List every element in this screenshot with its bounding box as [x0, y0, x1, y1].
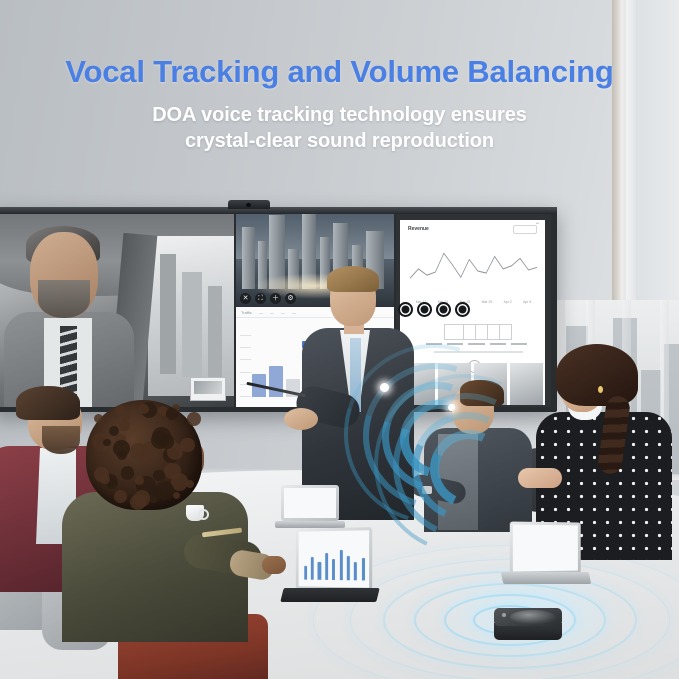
- bar: [354, 562, 357, 580]
- presenter-hand: [284, 408, 318, 430]
- settings-icon[interactable]: [455, 302, 470, 317]
- presenter-hair: [327, 266, 379, 292]
- bar: [332, 559, 335, 580]
- line-chart: [410, 240, 537, 298]
- legend: [426, 342, 527, 346]
- attendee-hands: [518, 468, 562, 488]
- coffee-cup: [186, 505, 204, 521]
- toolbar-item[interactable]: —: [270, 310, 274, 315]
- attendee-hair: [556, 344, 638, 406]
- analytics-title: Revenue: [408, 226, 429, 232]
- bar: [311, 557, 314, 580]
- conference-speakerphone[interactable]: [492, 608, 564, 642]
- device-top: [494, 608, 562, 626]
- zoom-in-icon[interactable]: ＋: [270, 293, 281, 304]
- laptop-screen: [513, 525, 578, 572]
- bar: [304, 566, 307, 580]
- page-title: Vocal Tracking and Volume Balancing: [0, 55, 679, 89]
- attendee-woman-left: [62, 400, 252, 679]
- settings-icon[interactable]: ⚙: [285, 293, 296, 304]
- city-building: [182, 272, 202, 377]
- hair-curl: [164, 463, 180, 479]
- hair-curl: [114, 490, 127, 503]
- earring: [598, 386, 603, 393]
- wristwatch: [422, 486, 432, 494]
- x-tick-label: Mar 29: [482, 300, 493, 306]
- bar: [347, 556, 350, 581]
- bar: [325, 553, 328, 580]
- laptop[interactable]: [502, 522, 590, 594]
- status-led: [502, 613, 506, 617]
- bar: [339, 550, 342, 581]
- picture-in-picture-thumbnail[interactable]: [190, 377, 226, 401]
- hair-curl: [119, 420, 129, 430]
- toolbar-item[interactable]: —: [281, 310, 285, 315]
- hair-curl: [113, 440, 130, 457]
- headline-block: Vocal Tracking and Volume Balancing DOA …: [0, 55, 679, 154]
- toolbar-item[interactable]: —: [259, 310, 263, 315]
- hair-curl: [173, 492, 180, 499]
- laptop-screen: [284, 488, 336, 518]
- footer-rule: [434, 351, 523, 353]
- promo-image: Vocal Tracking and Volume Balancing DOA …: [0, 0, 679, 679]
- stop-icon[interactable]: [417, 302, 432, 317]
- hair-curl: [166, 408, 178, 420]
- y-axis: [240, 335, 251, 397]
- hair-curl: [100, 475, 109, 484]
- laptop-screen: [299, 530, 369, 587]
- voice-source-dot: [448, 404, 455, 411]
- presenter-standing: [300, 270, 416, 520]
- hair-curl: [134, 490, 150, 506]
- subtitle-line-1: DOA voice tracking technology ensures: [152, 104, 527, 126]
- hair-curl: [187, 412, 201, 426]
- page-subtitle: DOA voice tracking technology ensures cr…: [0, 103, 679, 154]
- attendee-hair: [86, 400, 202, 510]
- x-tick-label: Apr 6: [523, 300, 531, 306]
- analytics-panel[interactable]: ••• Revenue Mar 17Mar 21Mar 25Mar 29Apr …: [396, 214, 551, 407]
- hair-curl: [153, 470, 165, 482]
- laptop-bar-series: [304, 545, 365, 581]
- toolbar-item[interactable]: —: [292, 310, 296, 315]
- attendee-hair: [460, 380, 504, 406]
- pause-icon[interactable]: [436, 302, 451, 317]
- close-icon[interactable]: ✕: [240, 293, 251, 304]
- x-tick-label: Apr 2: [504, 300, 512, 306]
- hair-curl: [186, 480, 194, 488]
- remote-attendee-beard: [38, 280, 90, 318]
- voice-source-dot: [380, 383, 389, 392]
- dashboard-title: Traffic: [241, 310, 252, 315]
- remote-participant-panel[interactable]: [0, 214, 234, 407]
- city-building: [208, 286, 222, 378]
- hair-curl: [180, 438, 194, 452]
- camera-bar-icon: [228, 200, 270, 209]
- hair-curl: [135, 476, 144, 485]
- media-controls[interactable]: ✕ ⛶ ＋ ⚙: [240, 293, 296, 304]
- bar: [362, 558, 365, 581]
- attendee-man-right: [424, 382, 534, 532]
- data-table[interactable]: [444, 324, 512, 340]
- hair-curl: [103, 439, 111, 447]
- subtitle-line-2: crystal-clear sound reproduction: [185, 130, 494, 152]
- hair-curl: [139, 404, 149, 414]
- speaker-grill-icon: [510, 610, 556, 624]
- bar: [318, 562, 321, 581]
- laptop-with-chart[interactable]: [282, 528, 378, 614]
- hair-curl: [121, 466, 134, 479]
- city-building: [160, 254, 176, 374]
- hair-curl: [94, 414, 103, 423]
- fullscreen-icon[interactable]: ⛶: [255, 293, 266, 304]
- hair-curl: [130, 443, 148, 461]
- display-brand-label: •••: [536, 221, 539, 225]
- date-range-selector[interactable]: [513, 225, 537, 234]
